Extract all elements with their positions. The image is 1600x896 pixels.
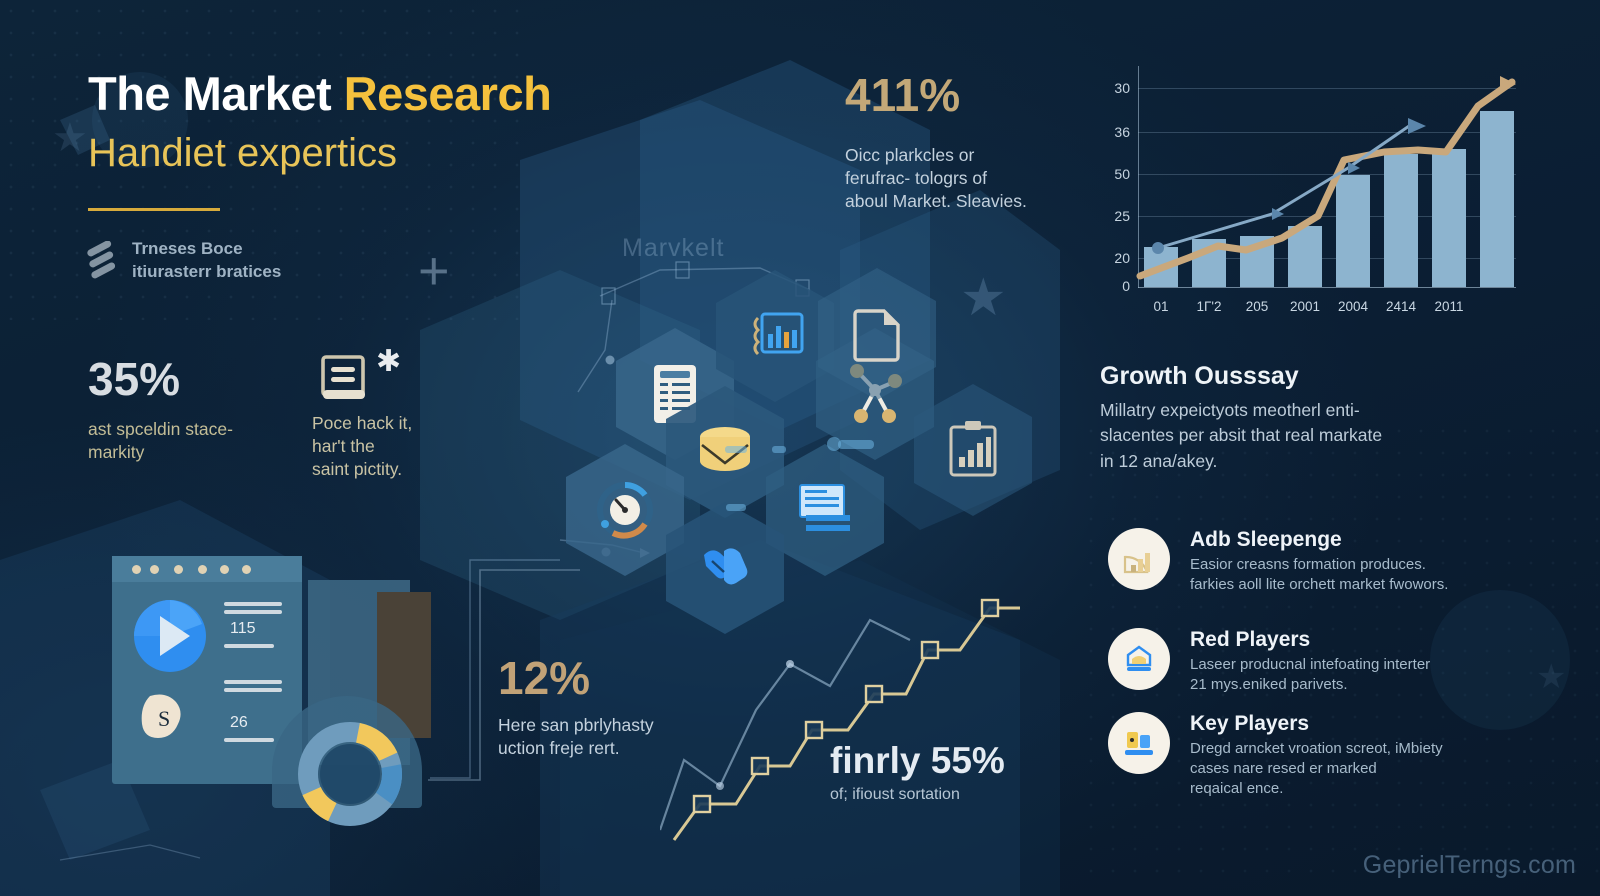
dashboard-rule	[224, 644, 274, 648]
background-word: Marvkelt	[622, 234, 724, 263]
chart-bar	[1336, 175, 1370, 287]
dashboard-rule	[224, 688, 282, 692]
feature-title: Red Players	[1190, 628, 1430, 652]
handshake-circle-icon	[1108, 628, 1170, 690]
chart-xtick-label: 205	[1240, 299, 1274, 314]
book-icon	[318, 352, 372, 406]
chart-ytick: 20	[1096, 250, 1130, 266]
presenter-board-icon	[1108, 712, 1170, 774]
stat-caption-35: ast spceldin stace- markity	[88, 418, 233, 464]
dashboard-card: 115 26 S	[112, 556, 302, 784]
section-title: Growth Ousssay	[1100, 362, 1299, 391]
dollar-badge-icon: S	[140, 692, 184, 742]
chart-ytick: 50	[1096, 166, 1130, 182]
chart-bar	[1240, 236, 1274, 287]
page-title-main: The Market	[88, 67, 344, 120]
stat-caption-book: Poce hack it, har't the saint pictity.	[312, 412, 412, 481]
chart-y-axis	[1138, 66, 1139, 288]
window-dot	[132, 565, 141, 574]
page-title: The Market Research	[88, 66, 551, 121]
title-divider	[88, 208, 220, 211]
pie-chart-play-icon	[132, 598, 210, 674]
stat-value-35: 35%	[88, 356, 180, 402]
dashboard-rule	[224, 602, 282, 606]
dashboard-metric-2: 26	[230, 714, 248, 732]
feature-title: Adb Sleepenge	[1190, 528, 1448, 552]
chart-xtick-label	[1480, 299, 1514, 314]
window-dot	[174, 565, 183, 574]
chart-xtick-label: 01	[1144, 299, 1178, 314]
feature-item[interactable]: Adb Sleepenge Easior creasns formation p…	[1108, 528, 1538, 595]
chart-ytick: 0	[1096, 278, 1130, 294]
star-icon: ★	[1536, 660, 1566, 694]
dashboard-metric-1: 115	[230, 620, 256, 638]
feature-body: Dregd arncket vroation screot, iMbiety c…	[1190, 739, 1443, 798]
dashboard-rule	[224, 738, 274, 742]
chart-xtick-label: 1Γ'2	[1192, 299, 1226, 314]
chart-ytick: 25	[1096, 208, 1130, 224]
chart-bar	[1480, 111, 1514, 287]
dashboard-rule	[224, 680, 282, 684]
growth-bar-chart: 30 36 50 25 20 0 011Γ'220520012004241420…	[1096, 66, 1516, 316]
page-subtitle: Handiet expertics	[88, 131, 397, 176]
chart-xtick-label: 2004	[1336, 299, 1370, 314]
chart-bar	[1384, 154, 1418, 287]
page-title-accent: Research	[344, 67, 552, 120]
window-dot	[150, 565, 159, 574]
window-dot	[242, 565, 251, 574]
svg-text:S: S	[158, 706, 170, 731]
brand-label: Trneses Boce itiurasterr bratices	[132, 238, 281, 284]
star-icon: ★	[52, 118, 88, 158]
scribble-mark-icon	[84, 241, 118, 281]
donut-chart-icon	[294, 718, 406, 830]
window-dot	[220, 565, 229, 574]
stat-value-411: 411%	[845, 72, 960, 118]
window-dot	[198, 565, 207, 574]
chart-bar	[1288, 226, 1322, 287]
plus-icon: +	[418, 244, 450, 298]
feature-title: Key Players	[1190, 712, 1443, 736]
chart-ytick: 30	[1096, 80, 1130, 96]
chart-bar	[1144, 247, 1178, 287]
chart-xtick-label: 2011	[1432, 299, 1466, 314]
chart-xticks: 011Γ'22052001200424142011	[1144, 299, 1514, 314]
growth-chart-icon	[1108, 528, 1170, 590]
feature-item[interactable]: Key Players Dregd arncket vroation screo…	[1108, 712, 1538, 798]
dashboard-rule	[224, 610, 282, 614]
asterisk-icon: ✱	[376, 344, 401, 379]
step-line-chart	[660, 590, 1060, 850]
chart-bar	[1432, 149, 1466, 287]
watermark: GeprielTerngs.com	[1363, 851, 1576, 880]
chart-ytick: 36	[1096, 124, 1130, 140]
feature-body: Laseer producnal intefoating interter 21…	[1190, 655, 1430, 695]
chart-xtick-label: 2001	[1288, 299, 1322, 314]
chart-bars	[1144, 74, 1514, 287]
stat-caption-411: Oicc plarkcles or ferufrac- tologrs of a…	[845, 144, 1027, 213]
feature-item[interactable]: Red Players Laseer producnal intefoating…	[1108, 628, 1538, 695]
chart-xtick-label: 2414	[1384, 299, 1418, 314]
section-body: Millatry expeictyots meotherl enti- slac…	[1100, 398, 1500, 474]
brand-row: Trneses Boce itiurasterr bratices	[84, 238, 281, 284]
feature-body: Easior creasns formation produces. farki…	[1190, 555, 1448, 595]
chart-bar	[1192, 239, 1226, 287]
chart-x-axis	[1138, 287, 1516, 288]
infographic-canvas: Marvkelt ★ ★ ★ + The Market Research Han…	[0, 0, 1600, 896]
